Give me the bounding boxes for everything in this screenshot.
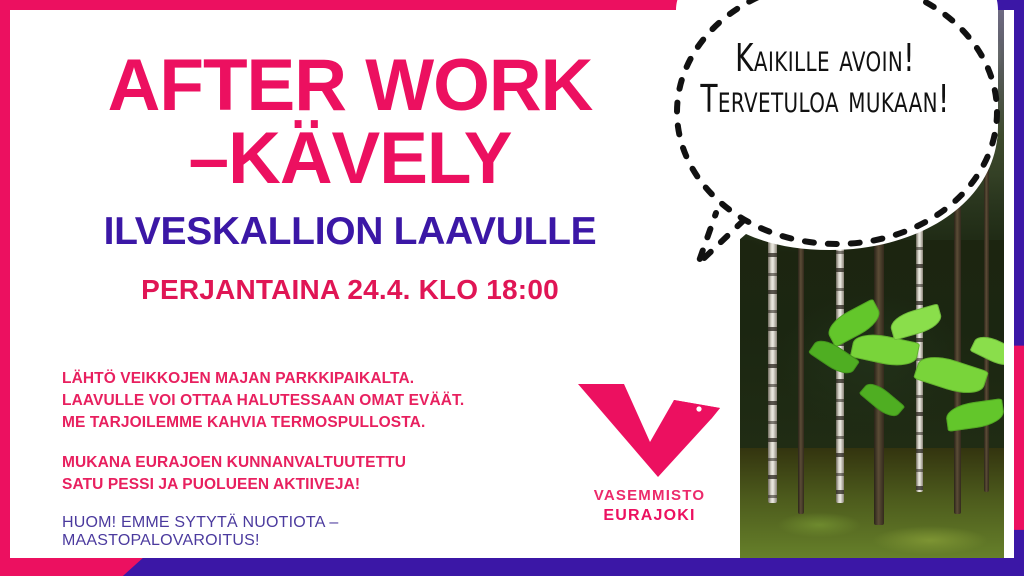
detail-line: ME TARJOILEMME KAHVIA TERMOSPULLOSTA. <box>62 412 532 434</box>
logo-name-line-1: VASEMMISTO <box>562 487 737 506</box>
warning-note: HUOM! EMME SYTYTÄ NUOTIOTA – MAASTOPALOV… <box>62 514 532 550</box>
detail-line: LAAVULLE VOI OTTAA HALUTESSAAN OMAT EVÄÄ… <box>62 390 532 412</box>
title-line-1: AFTER WORK <box>0 52 700 119</box>
event-date: PERJANTAINA 24.4. KLO 18:00 <box>0 274 700 306</box>
guest-line: SATU PESSI JA PUOLUEEN AKTIIVEJA! <box>62 474 532 496</box>
page-title: AFTER WORK –KÄVELY <box>0 52 700 192</box>
body-copy-block: LÄHTÖ VEIKKOJEN MAJAN PARKKIPAIKALTA. LA… <box>62 368 532 550</box>
paragraph-details: LÄHTÖ VEIKKOJEN MAJAN PARKKIPAIKALTA. LA… <box>62 368 532 434</box>
vasemmisto-bird-v-icon <box>562 378 737 483</box>
vasemmisto-logo: VASEMMISTO EURAJOKI <box>562 378 737 526</box>
poster-canvas: Kaikille avoin! Tervetuloa mukaan! AFTER… <box>0 0 1024 576</box>
title-line-2: –KÄVELY <box>0 125 700 192</box>
subtitle: ILVESKALLION LAAVULLE <box>0 210 700 254</box>
logo-name-line-2: EURAJOKI <box>562 506 737 526</box>
headline-block: AFTER WORK –KÄVELY ILVESKALLION LAAVULLE… <box>0 52 700 306</box>
speech-bubble-text: Kaikille avoin! Tervetuloa mukaan! <box>690 38 961 120</box>
bubble-line-1: Kaikille avoin! <box>690 38 961 79</box>
photo-ground-layer <box>740 448 1004 558</box>
guest-line: MUKANA EURAJOEN KUNNANVALTUUTETTU <box>62 452 532 474</box>
bird-eye-icon <box>696 406 701 411</box>
detail-line: LÄHTÖ VEIKKOJEN MAJAN PARKKIPAIKALTA. <box>62 368 532 390</box>
bubble-line-2: Tervetuloa mukaan! <box>690 79 961 120</box>
paragraph-guests: MUKANA EURAJOEN KUNNANVALTUUTETTU SATU P… <box>62 452 532 496</box>
